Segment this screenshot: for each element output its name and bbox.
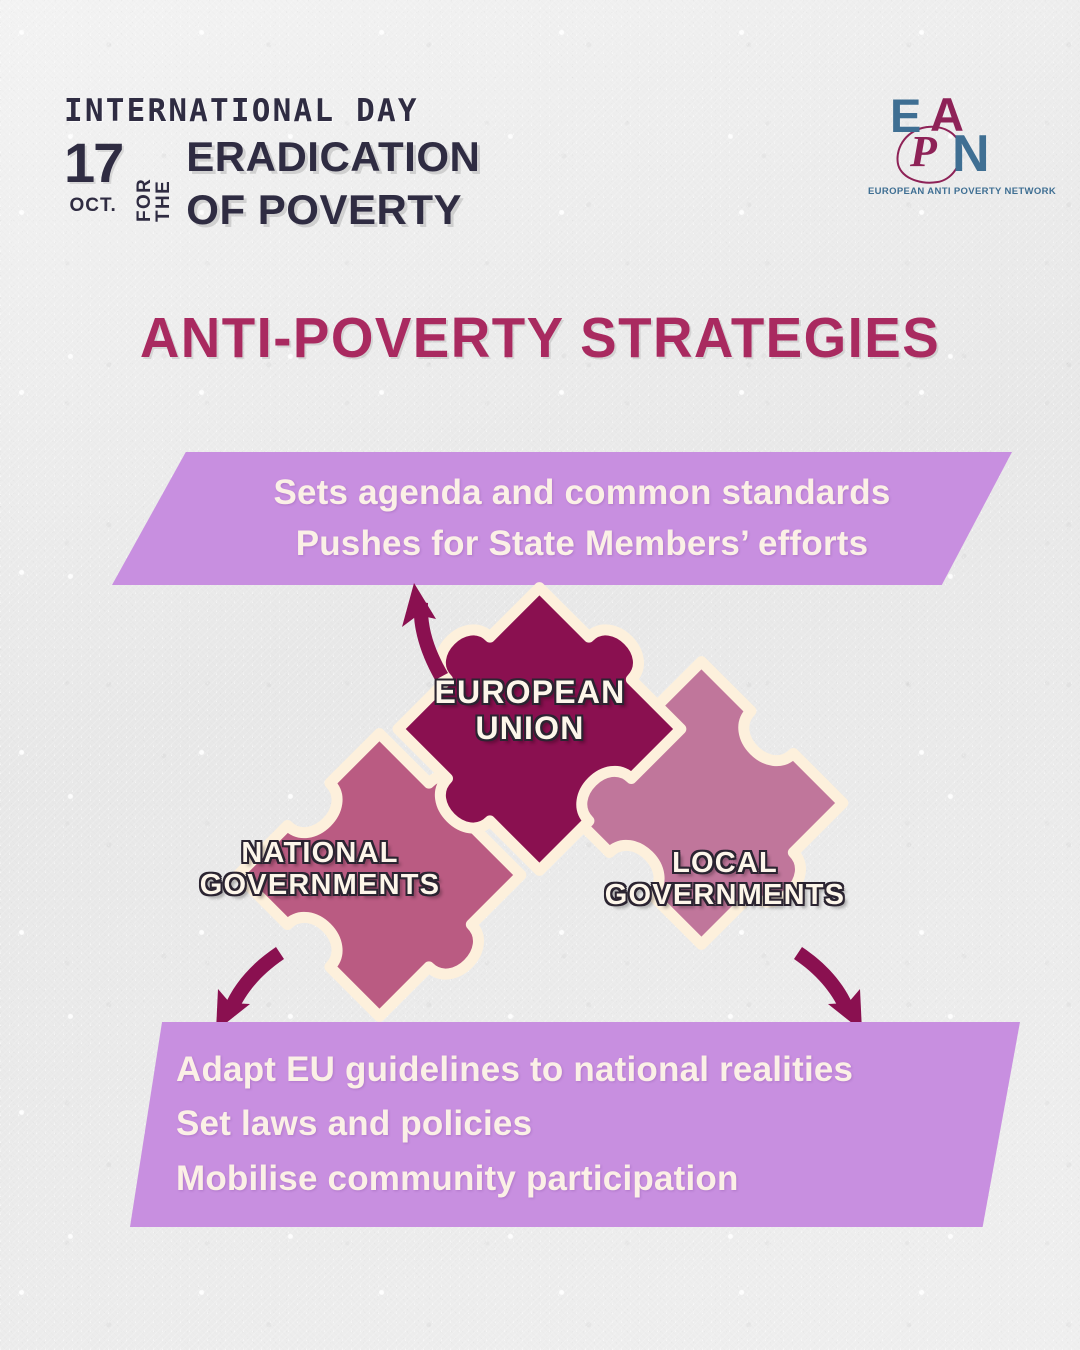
curved-arrow-up-icon bbox=[402, 583, 448, 680]
eapn-logo: E A P N EUROPEAN ANTI POVERTY NETWORK bbox=[868, 90, 1028, 197]
banner-top-line-2: Pushes for State Members’ efforts bbox=[192, 519, 1012, 570]
header-title-words: ERADICATION OF POVERTY bbox=[186, 136, 480, 230]
puzzle-label-eu-line1: EUROPEAN bbox=[435, 674, 626, 710]
puzzle-label-national-line1: NATIONAL bbox=[241, 837, 398, 869]
curved-arrow-down-left-icon bbox=[216, 947, 284, 1031]
puzzle-label-national-governments: NATIONAL GOVERNMENTS bbox=[160, 837, 480, 902]
puzzle-label-local-line1: LOCAL bbox=[672, 847, 778, 879]
banner-bottom-line-2: Set laws and policies bbox=[176, 1097, 1020, 1151]
banner-government-responsibilities: Adapt EU guidelines to national realitie… bbox=[130, 1022, 1020, 1227]
poster-canvas: INTERNATIONAL DAY 17 OCT. FOR THE ERADIC… bbox=[0, 0, 1080, 1350]
eapn-logo-marks: E A P N bbox=[884, 90, 1012, 182]
header-date-block: 17 OCT. bbox=[64, 136, 122, 217]
header-international-day: INTERNATIONAL DAY bbox=[64, 96, 584, 127]
banner-eu-responsibilities: Sets agenda and common standards Pushes … bbox=[112, 452, 1012, 585]
banner-top-line-1: Sets agenda and common standards bbox=[192, 468, 1012, 519]
puzzle-label-local-governments: LOCAL GOVERNMENTS bbox=[560, 847, 890, 912]
logo-letter-n: N bbox=[952, 128, 990, 180]
puzzle-label-national-line2: GOVERNMENTS bbox=[200, 869, 440, 901]
logo-caption: EUROPEAN ANTI POVERTY NETWORK bbox=[868, 186, 1028, 197]
banner-bottom-line-3: Mobilise community participation bbox=[176, 1152, 1020, 1206]
header-date-row: 17 OCT. FOR THE ERADICATION OF POVERTY bbox=[64, 136, 584, 230]
banner-bottom-line-1: Adapt EU guidelines to national realitie… bbox=[176, 1043, 1020, 1097]
puzzle-svg bbox=[180, 575, 900, 1045]
header-for-the: FOR THE bbox=[135, 136, 173, 222]
header-word-eradication: ERADICATION bbox=[186, 136, 480, 178]
puzzle-label-eu-line2: UNION bbox=[475, 710, 584, 746]
puzzle-label-european-union: EUROPEAN UNION bbox=[380, 675, 680, 747]
logo-letter-p: P bbox=[910, 130, 937, 174]
header-day-number: 17 bbox=[64, 137, 122, 189]
puzzle-diagram: EUROPEAN UNION NATIONAL GOVERNMENTS LOCA… bbox=[180, 575, 900, 1045]
header-month: OCT. bbox=[70, 195, 117, 217]
page-title: ANTI-POVERTY STRATEGIES bbox=[22, 305, 1059, 371]
event-header: INTERNATIONAL DAY 17 OCT. FOR THE ERADIC… bbox=[64, 96, 584, 230]
puzzle-label-local-line2: GOVERNMENTS bbox=[605, 879, 845, 911]
header-word-of-poverty: OF POVERTY bbox=[186, 189, 480, 231]
curved-arrow-down-right-icon bbox=[794, 947, 862, 1031]
